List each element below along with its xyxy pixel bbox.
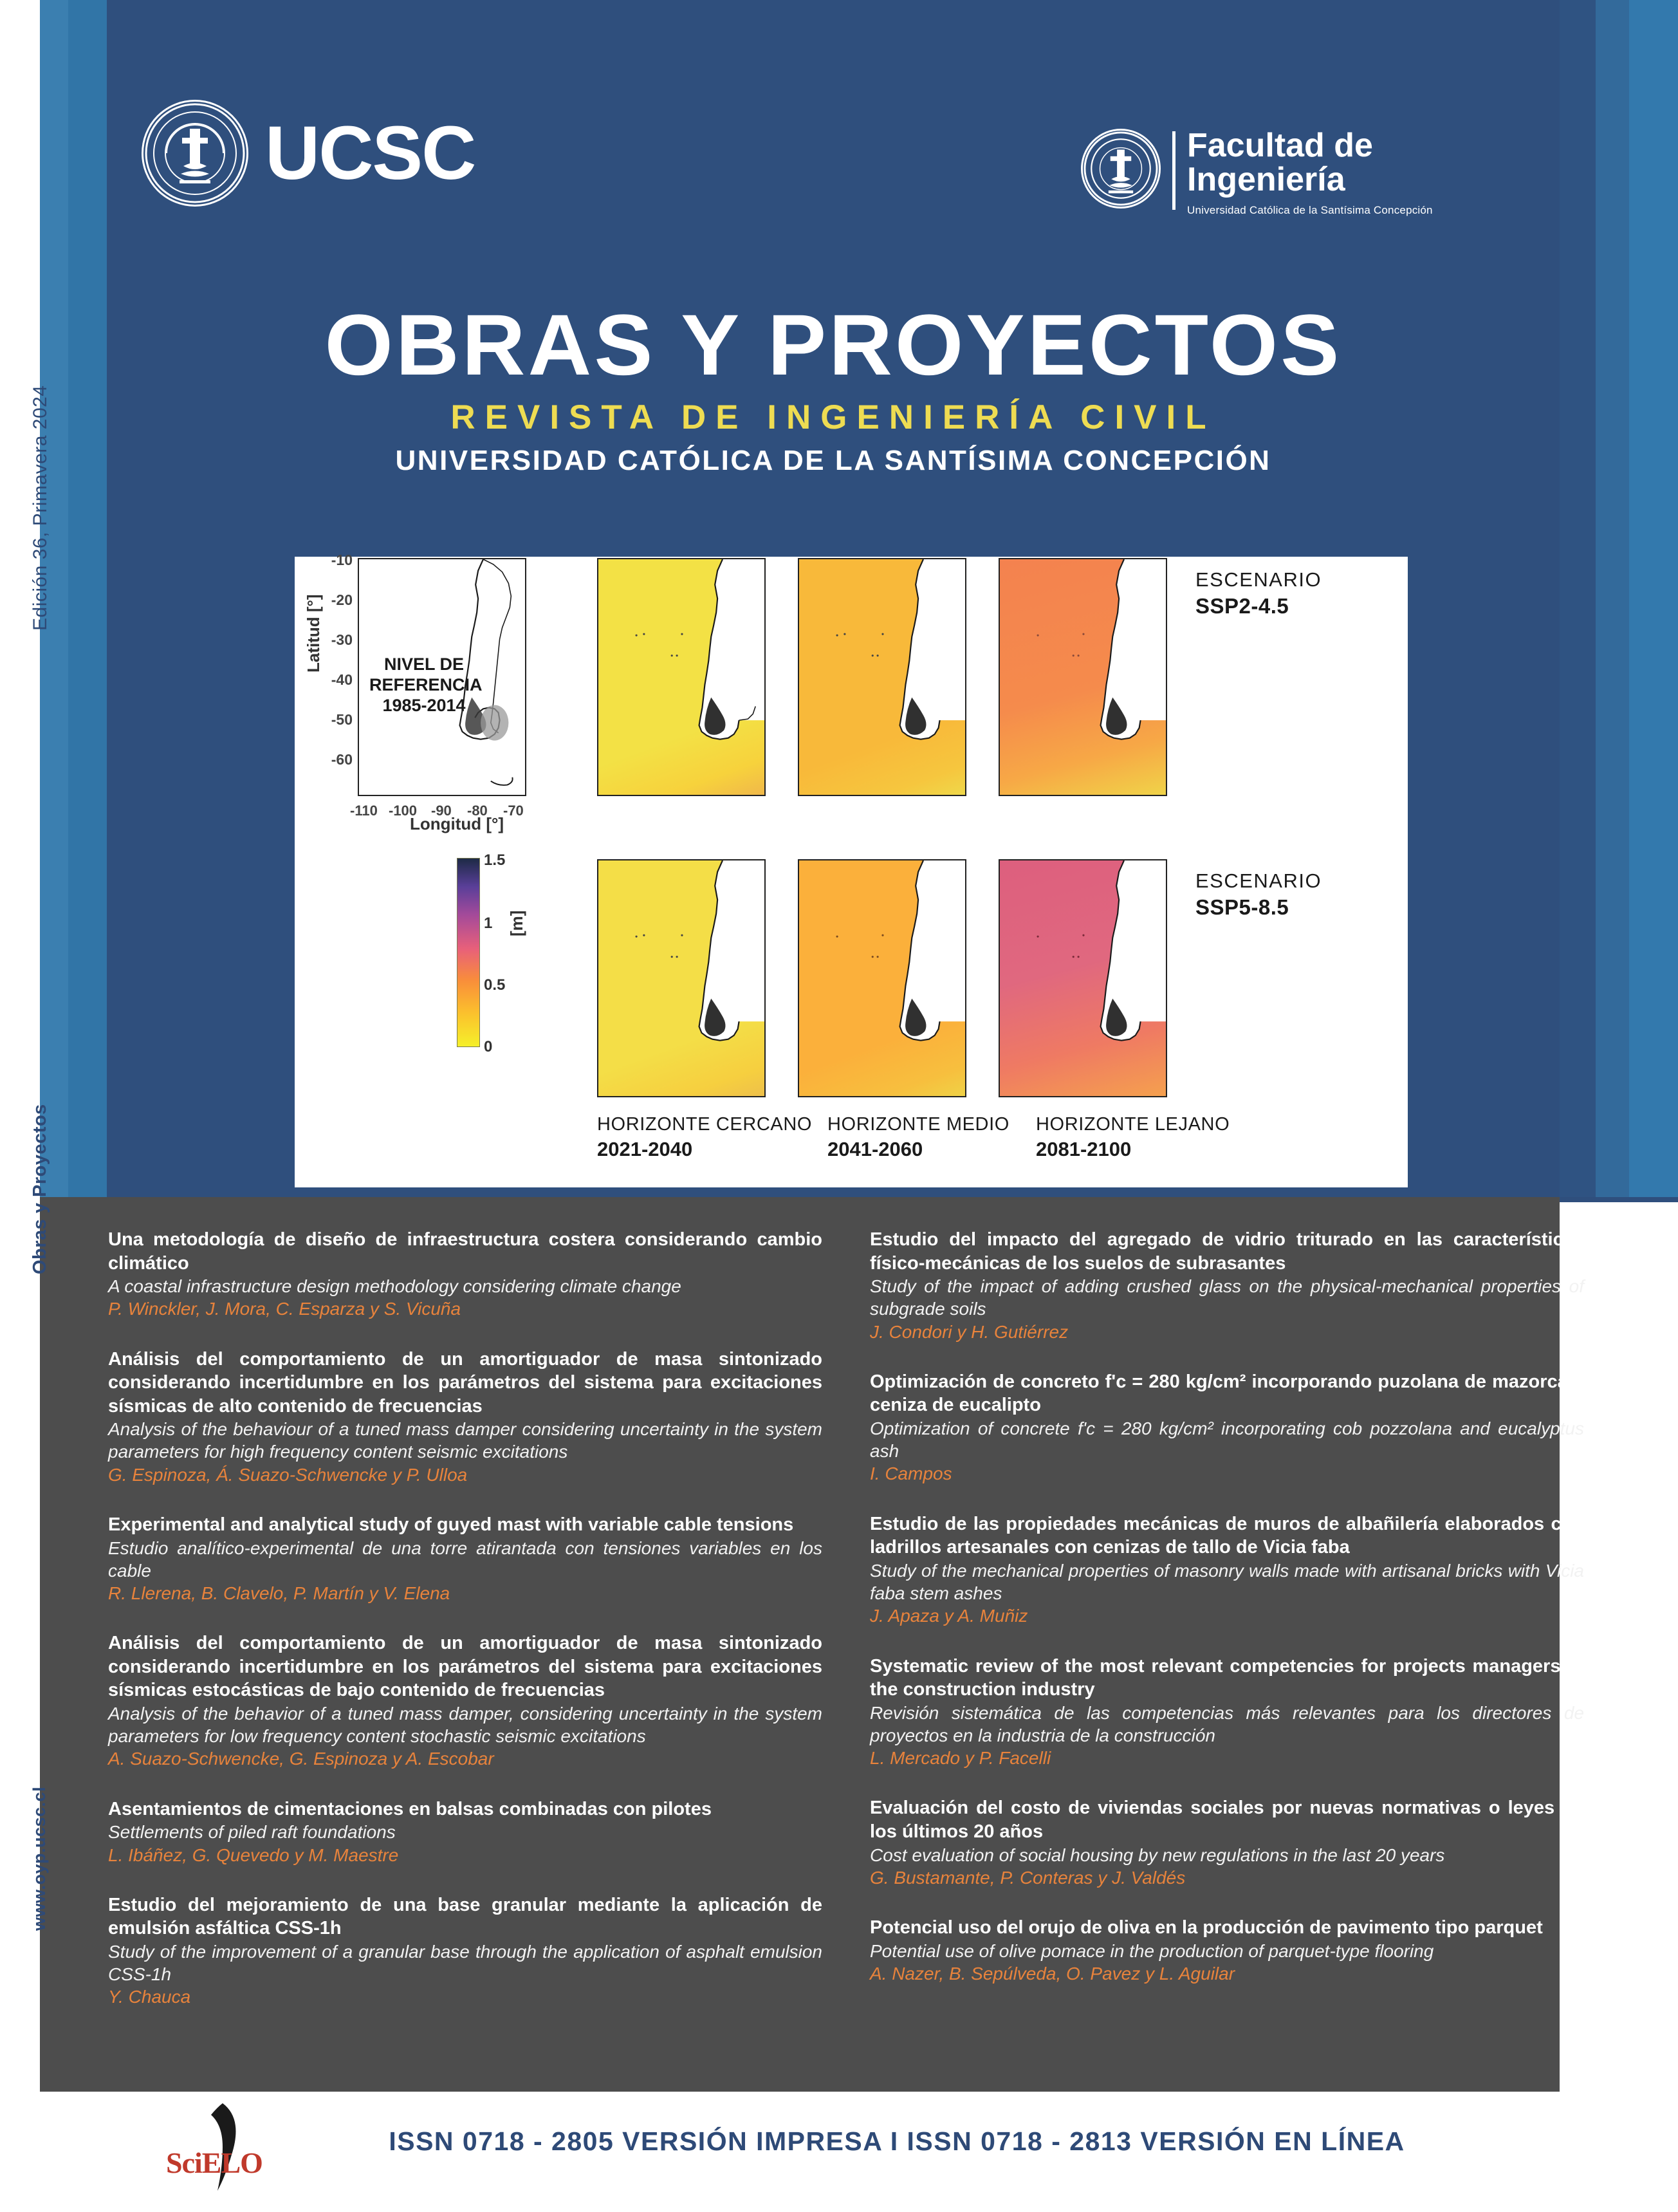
xtick-4: -70 [503, 803, 524, 819]
coastline-icon [799, 860, 965, 1095]
article-authors: I. Campos [870, 1462, 1584, 1485]
coastline-icon [1000, 559, 1166, 794]
ytick-1: -20 [317, 591, 353, 609]
scenario-ssp2: ESCENARIO SSP2-4.5 [1195, 568, 1322, 618]
scenario-label-2-top: ESCENARIO [1195, 869, 1322, 893]
article-title-es: Análisis del comportamiento de un amorti… [108, 1348, 822, 1418]
article-entry[interactable]: Evaluación del costo de viviendas social… [870, 1796, 1584, 1889]
article-title-es: Evaluación del costo de viviendas social… [870, 1796, 1584, 1843]
reference-line3: 1985-2014 [369, 696, 479, 716]
journal-cover: EDICIÓN 36 I 2024 UCSC [0, 0, 1678, 2212]
right-band-light [1629, 0, 1678, 1197]
xtick-2: -90 [431, 803, 452, 819]
article-title-es: Estudio del mejoramiento de una base gra… [108, 1893, 822, 1940]
article-title-es: Asentamientos de cimentaciones en balsas… [108, 1798, 822, 1821]
ucsc-logo: UCSC [142, 100, 475, 207]
article-authors: Y. Chauca [108, 1985, 822, 2008]
article-entry[interactable]: Experimental and analytical study of guy… [108, 1513, 822, 1604]
horizon-far: HORIZONTE LEJANO 2081-2100 [1036, 1114, 1230, 1161]
map-ssp5-near [597, 859, 766, 1097]
article-entry[interactable]: Estudio del mejoramiento de una base gra… [108, 1893, 822, 2009]
colorbar-tick-3: 1.5 [484, 851, 505, 869]
xtick-0: -110 [350, 803, 378, 819]
faculty-line2: Ingeniería [1187, 162, 1433, 198]
article-authors: P. Winckler, J. Mora, C. Esparza y S. Vi… [108, 1297, 822, 1320]
article-entry[interactable]: Una metodología de diseño de infraestruc… [108, 1228, 822, 1321]
right-band-mid [1596, 0, 1629, 1197]
header-edge [1560, 1197, 1678, 1202]
colorbar-unit: [m] [507, 911, 527, 936]
map-reference: NIVEL DE REFERENCIA 1985-2014 [358, 558, 526, 796]
spine: Edición 36, Primavera 2024 Obras y Proye… [0, 0, 40, 2212]
article-entry[interactable]: Estudio del impacto del agregado de vidr… [870, 1228, 1584, 1343]
article-title-en: Cost evaluation of social housing by new… [870, 1844, 1584, 1866]
article-title-es: Análisis del comportamiento de un amorti… [108, 1631, 822, 1702]
article-title-en: Study of the improvement of a granular b… [108, 1940, 822, 1986]
article-authors: G. Bustamante, P. Conteras y J. Valdés [870, 1866, 1584, 1889]
faculty-seal-icon [1081, 129, 1161, 209]
colorbar-tick-0: 0 [484, 1038, 492, 1056]
articles-panel: Una metodología de diseño de infraestruc… [40, 1197, 1560, 2092]
article-title-es: Experimental and analytical study of guy… [108, 1513, 822, 1537]
coastline-icon [1000, 860, 1166, 1095]
journal-subtitle: REVISTA DE INGENIERÍA CIVIL [107, 398, 1560, 437]
article-title-en: Estudio analítico-experimental de una to… [108, 1537, 822, 1583]
spine-journal: Obras y Proyectos [30, 1104, 51, 1274]
article-title-en: Settlements of piled raft foundations [108, 1821, 822, 1843]
ytick-4: -50 [317, 711, 353, 729]
articles-column-right: Estudio del impacto del agregado de vidr… [870, 1228, 1584, 2012]
article-authors: R. Llerena, B. Clavelo, P. Martín y V. E… [108, 1582, 822, 1604]
article-authors: L. Mercado y P. Facelli [870, 1747, 1584, 1769]
colorbar-tick-2: 1 [484, 915, 492, 933]
ytick-2: -30 [317, 631, 353, 649]
article-entry[interactable]: Optimización de concreto f'c = 280 kg/cm… [870, 1370, 1584, 1485]
colorbar [457, 858, 480, 1047]
spine-website: www.oyp.ucsc.cl [30, 1787, 50, 1931]
articles-column-left: Una metodología de diseño de infraestruc… [108, 1228, 822, 2036]
horizon-3-bottom: 2081-2100 [1036, 1138, 1230, 1161]
article-authors: G. Espinoza, Á. Suazo-Schwencke y P. Ull… [108, 1464, 822, 1486]
article-title-es: Potencial uso del orujo de oliva en la p… [870, 1916, 1584, 1940]
article-title-en: Analysis of the behaviour of a tuned mas… [108, 1418, 822, 1464]
article-authors: L. Ibáñez, G. Quevedo y M. Maestre [108, 1844, 822, 1866]
horizon-2-bottom: 2041-2060 [827, 1138, 1010, 1161]
issn-line: ISSN 0718 - 2805 VERSIÓN IMPRESA I ISSN … [58, 2126, 1678, 2157]
article-title-es: Una metodología de diseño de infraestruc… [108, 1228, 822, 1275]
faculty-line1: Facultad de [1187, 129, 1433, 162]
xtick-1: -100 [389, 803, 417, 819]
horizon-near: HORIZONTE CERCANO 2021-2040 [597, 1114, 812, 1161]
article-authors: J. Condori y H. Gutiérrez [870, 1321, 1584, 1343]
ytick-0: -10 [317, 552, 353, 569]
journal-title: OBRAS Y PROYECTOS [92, 302, 1574, 389]
article-title-en: Study of the impact of adding crushed gl… [870, 1275, 1584, 1321]
horizon-3-top: HORIZONTE LEJANO [1036, 1114, 1230, 1135]
faculty-divider [1172, 131, 1176, 210]
faculty-subtitle: Universidad Católica de la Santísima Con… [1187, 204, 1433, 217]
article-title-es: Optimización de concreto f'c = 280 kg/cm… [870, 1370, 1584, 1417]
horizon-2-top: HORIZONTE MEDIO [827, 1114, 1010, 1135]
reference-line1: NIVEL DE [369, 655, 479, 675]
faculty-text: Facultad de Ingeniería Universidad Catól… [1187, 129, 1433, 217]
scenario-label-1-top: ESCENARIO [1195, 568, 1322, 591]
ytick-5: -60 [317, 751, 353, 768]
footer: SciELO ISSN 0718 - 2805 VERSIÓN IMPRESA … [0, 2092, 1678, 2212]
article-authors: A. Suazo-Schwencke, G. Espinoza y A. Esc… [108, 1747, 822, 1770]
coastline-icon [799, 559, 965, 794]
article-title-en: Potential use of olive pomace in the pro… [870, 1940, 1584, 1962]
horizon-1-bottom: 2021-2040 [597, 1138, 812, 1161]
article-authors: J. Apaza y A. Muñiz [870, 1604, 1584, 1627]
map-ssp2-near [597, 558, 766, 796]
journal-university: UNIVERSIDAD CATÓLICA DE LA SANTÍSIMA CON… [107, 445, 1560, 477]
map-ssp2-mid [798, 558, 966, 796]
faculty-logo: Facultad de Ingeniería Universidad Catól… [1081, 129, 1433, 217]
scenario-label-2-bottom: SSP5-8.5 [1195, 895, 1322, 920]
map-ssp5-mid [798, 859, 966, 1097]
coastline-icon [598, 559, 764, 794]
article-entry[interactable]: Análisis del comportamiento de un amorti… [108, 1348, 822, 1486]
article-title-es: Estudio de las propiedades mecánicas de … [870, 1512, 1584, 1559]
masthead: OBRAS Y PROYECTOS REVISTA DE INGENIERÍA … [107, 302, 1560, 477]
article-entry[interactable]: Estudio de las propiedades mecánicas de … [870, 1512, 1584, 1628]
article-title-en: Study of the mechanical properties of ma… [870, 1559, 1584, 1605]
article-title-en: Revisión sistemática de las competencias… [870, 1702, 1584, 1747]
article-title-en: Analysis of the behavior of a tuned mass… [108, 1702, 822, 1748]
map-ssp2-far [999, 558, 1167, 796]
reference-label: NIVEL DE REFERENCIA 1985-2014 [369, 655, 479, 716]
article-authors: A. Nazer, B. Sepúlveda, O. Pavez y L. Ag… [870, 1962, 1584, 1985]
article-entry[interactable]: Systematic review of the most relevant c… [870, 1655, 1584, 1770]
article-entry[interactable]: Potencial uso del orujo de oliva en la p… [870, 1916, 1584, 1985]
article-entry[interactable]: Análisis del comportamiento de un amorti… [108, 1631, 822, 1770]
scenario-ssp5: ESCENARIO SSP5-8.5 [1195, 869, 1322, 920]
left-band-mid [68, 0, 107, 1326]
figure-xlabel: Longitud [°] [354, 814, 560, 834]
ucsc-wordmark: UCSC [265, 115, 475, 191]
reference-line2: REFERENCIA [369, 675, 479, 696]
spine-edition: Edición 36, Primavera 2024 [30, 385, 51, 631]
ytick-3: -40 [317, 671, 353, 689]
article-title-es: Estudio del impacto del agregado de vidr… [870, 1228, 1584, 1275]
article-title-en: Optimization of concrete f'c = 280 kg/cm… [870, 1417, 1584, 1463]
article-title-es: Systematic review of the most relevant c… [870, 1655, 1584, 1702]
ucsc-seal-icon [142, 100, 248, 207]
xtick-3: -80 [467, 803, 488, 819]
scenario-label-1-bottom: SSP2-4.5 [1195, 594, 1322, 618]
cover-figure: Latitud [°] Longitud [°] -10 -20 -30 -40… [295, 557, 1408, 1187]
horizon-1-top: HORIZONTE CERCANO [597, 1114, 812, 1135]
colorbar-tick-1: 0.5 [484, 976, 505, 994]
right-band-dark [1560, 0, 1596, 1197]
article-entry[interactable]: Asentamientos de cimentaciones en balsas… [108, 1798, 822, 1866]
horizon-mid: HORIZONTE MEDIO 2041-2060 [827, 1114, 1010, 1161]
coastline-icon [598, 860, 764, 1095]
map-ssp5-far [999, 859, 1167, 1097]
article-title-en: A coastal infrastructure design methodol… [108, 1275, 822, 1297]
